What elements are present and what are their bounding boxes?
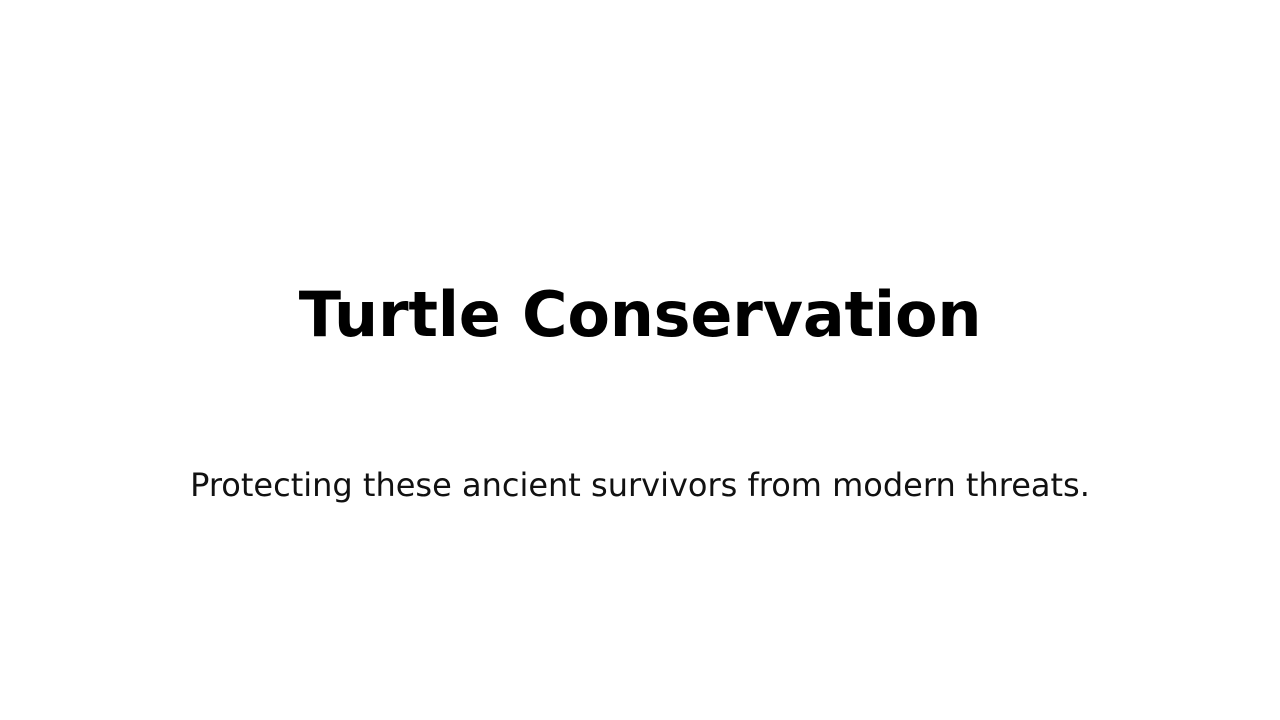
slide-subtitle: Protecting these ancient survivors from … [0,463,1280,507]
page-title: Turtle Conservation [0,277,1280,353]
title-slide: Turtle Conservation Protecting these anc… [0,0,1280,720]
